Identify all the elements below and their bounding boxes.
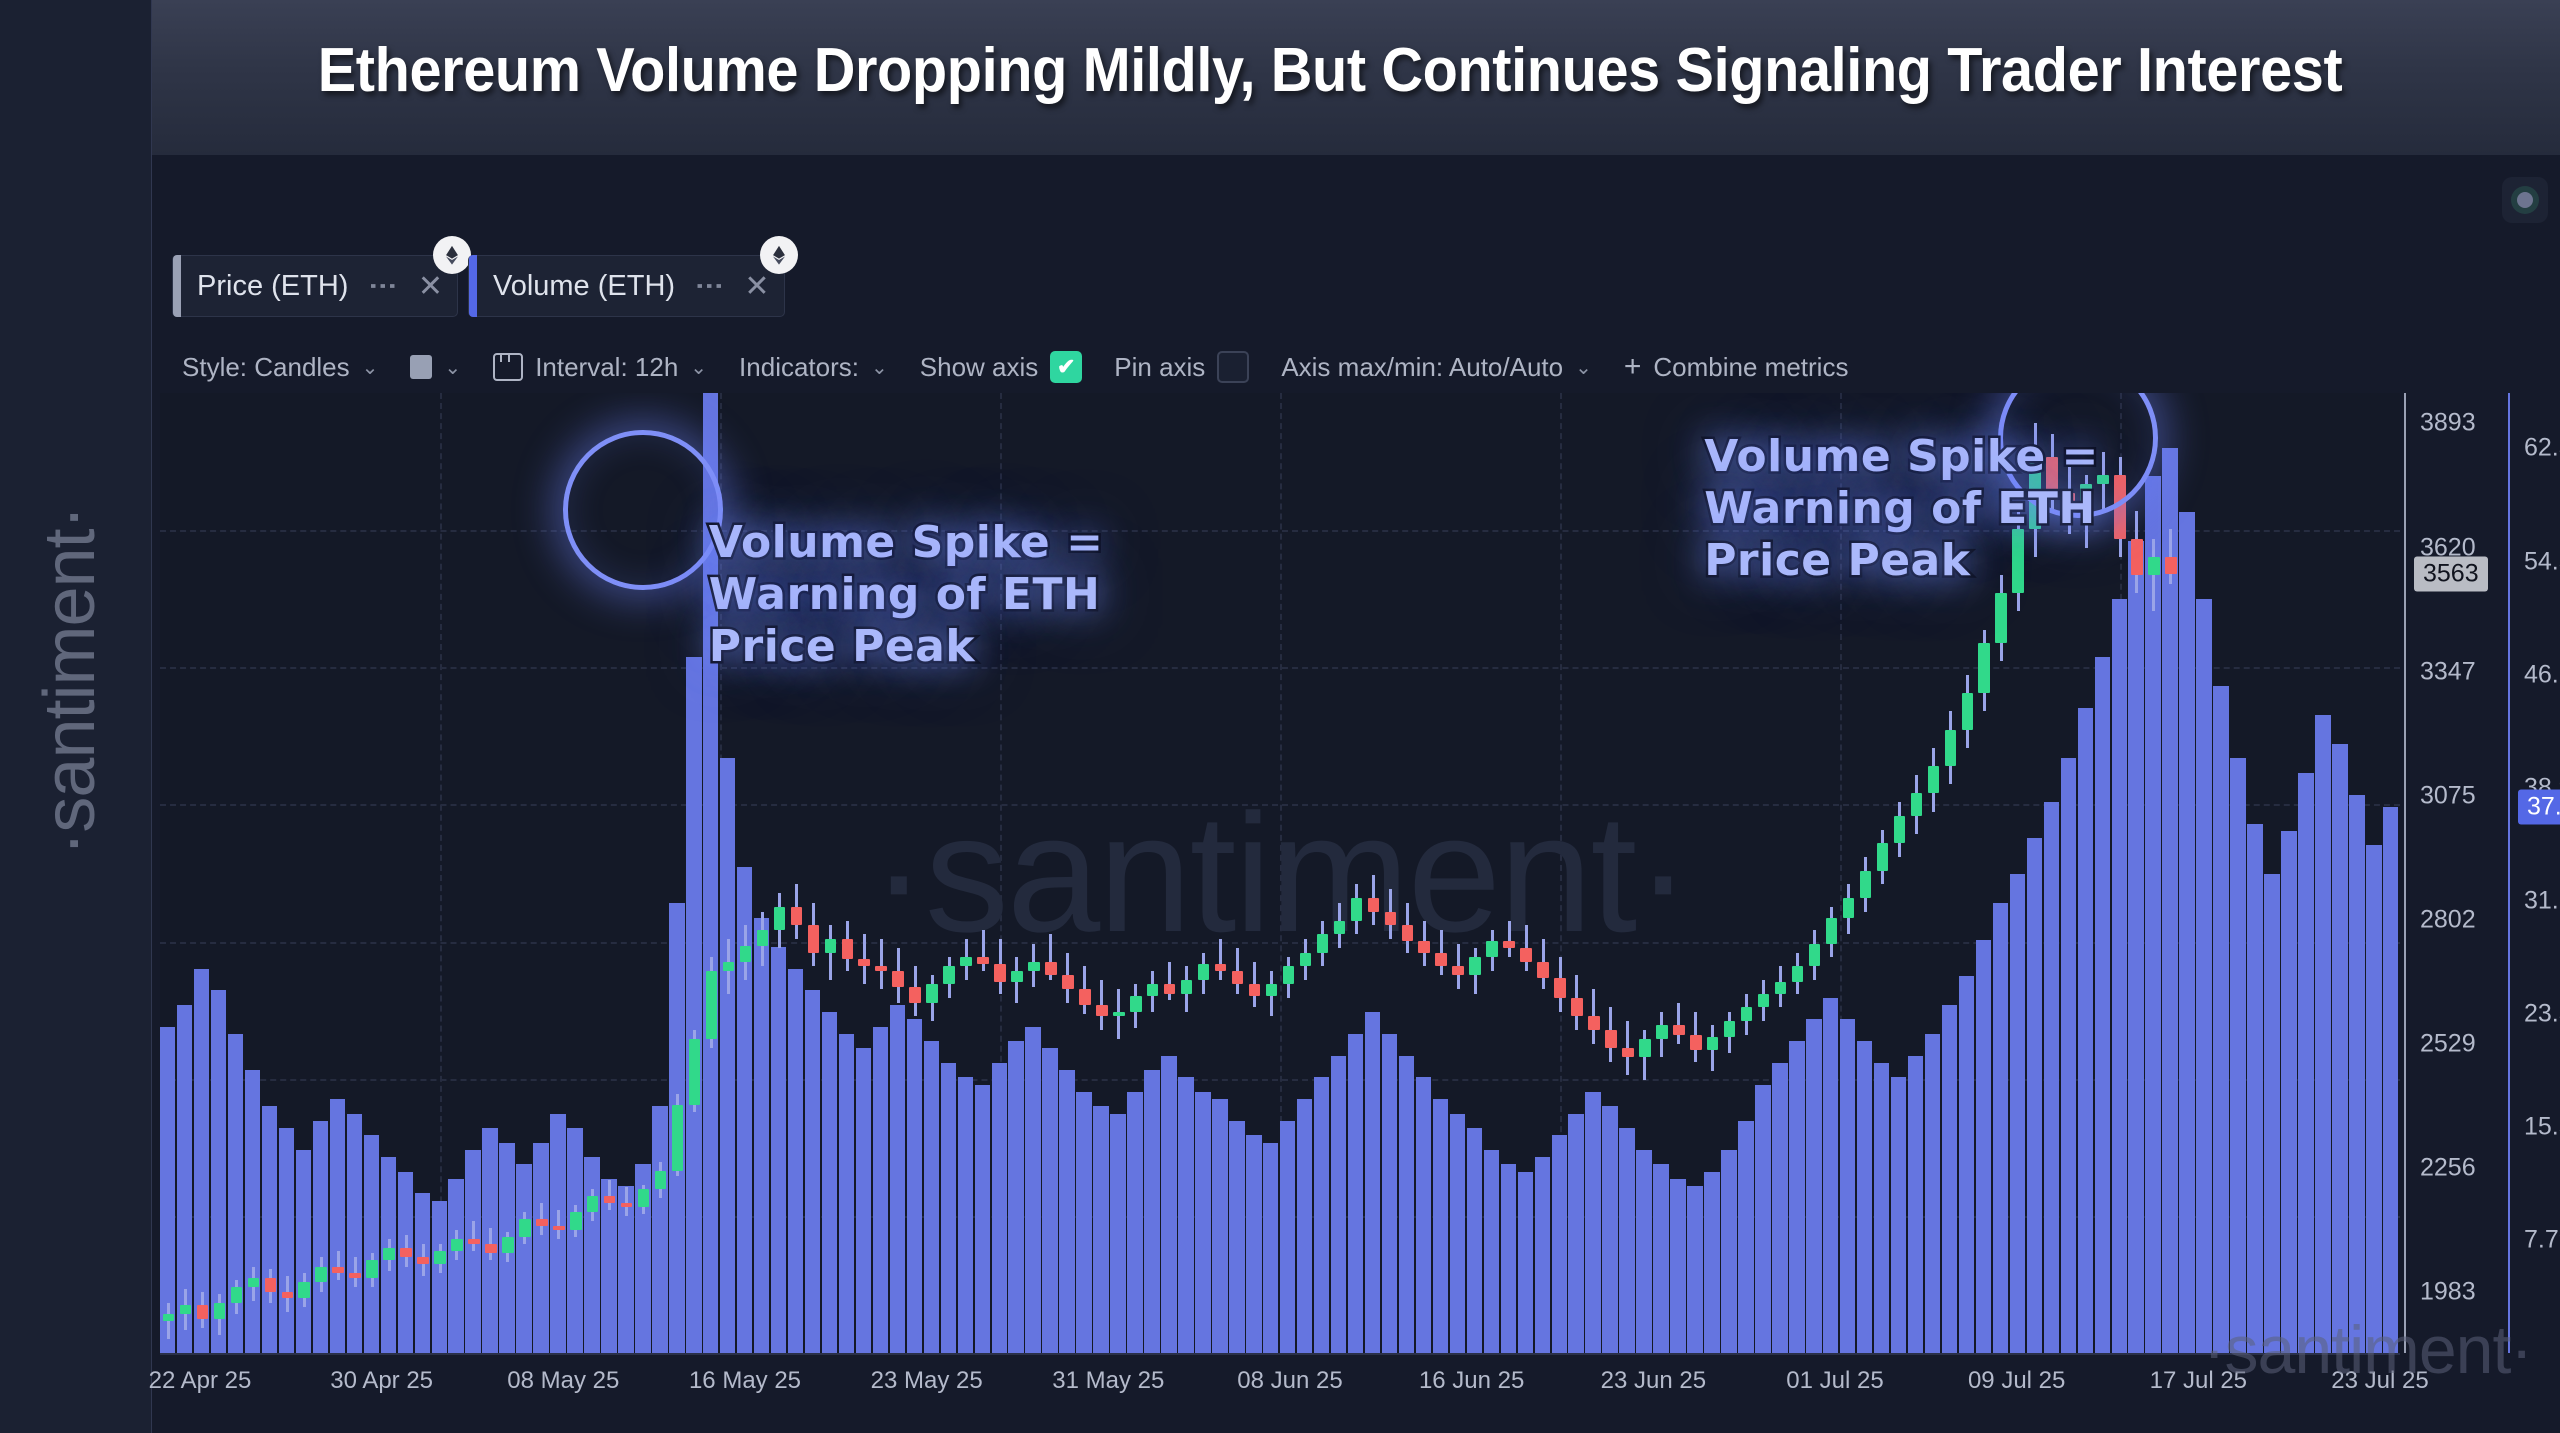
candle-up bbox=[960, 957, 972, 966]
candle-down bbox=[621, 1203, 633, 1208]
candle-down bbox=[1435, 953, 1447, 967]
candle-wick bbox=[625, 1187, 628, 1217]
candle-down bbox=[1232, 971, 1244, 985]
candle-down bbox=[1164, 984, 1176, 993]
date-axis-tick: 17 Jul 25 bbox=[2150, 1367, 2247, 1395]
chevron-down-icon[interactable]: ⌄ bbox=[444, 355, 461, 380]
date-axis-tick: 01 Jul 25 bbox=[1786, 1367, 1883, 1395]
candle-down bbox=[791, 907, 803, 925]
candle-up bbox=[1147, 984, 1159, 995]
candle-wick bbox=[557, 1210, 560, 1240]
candle-up bbox=[1995, 593, 2007, 643]
candle-up bbox=[502, 1237, 514, 1253]
candle-down bbox=[1418, 941, 1430, 952]
candle-wick bbox=[829, 925, 832, 980]
volume-axis-tick: 54.58B bbox=[2524, 547, 2560, 576]
price-axis-tick: 3075 bbox=[2420, 781, 2476, 810]
candle-down bbox=[892, 971, 904, 987]
date-axis-tick: 30 Apr 25 bbox=[330, 1367, 433, 1395]
candle-up bbox=[1775, 982, 1787, 993]
price-axis[interactable]: 389336203347307528022529225619833563 bbox=[2404, 393, 2498, 1353]
interval-label: Interval: 12h bbox=[535, 352, 678, 383]
candle-up bbox=[1639, 1039, 1651, 1057]
page-title: Ethereum Volume Dropping Mildly, But Con… bbox=[233, 34, 2428, 106]
candle-down bbox=[1622, 1048, 1634, 1057]
combine-metrics-label: Combine metrics bbox=[1653, 352, 1848, 383]
candle-wick bbox=[167, 1303, 170, 1339]
date-axis-tick: 16 Jun 25 bbox=[1419, 1367, 1524, 1395]
candle-down bbox=[994, 964, 1006, 982]
candle-down bbox=[332, 1267, 344, 1274]
candle-down bbox=[536, 1219, 548, 1226]
candle-down bbox=[2165, 557, 2177, 574]
chart-screenshot-root: Ethereum Volume Dropping Mildly, But Con… bbox=[0, 0, 2560, 1433]
candle-up bbox=[519, 1219, 531, 1237]
candle-up bbox=[231, 1287, 243, 1303]
annotation-text-2: Volume Spike = Warning of ETH Price Peak bbox=[1704, 431, 2099, 587]
volume-current-value-badge: 37.62B bbox=[2518, 790, 2560, 825]
candle-up bbox=[1911, 793, 1923, 816]
candle-up bbox=[1266, 984, 1278, 995]
candle-up bbox=[315, 1267, 327, 1283]
candle-down bbox=[1503, 941, 1515, 948]
axis-minmax-selector[interactable]: Axis max/min: Auto/Auto ⌄ bbox=[1265, 352, 1608, 383]
live-status-dot-icon[interactable] bbox=[2502, 177, 2548, 223]
candle-up bbox=[774, 907, 786, 930]
candle-up bbox=[163, 1314, 175, 1321]
candle-down bbox=[553, 1226, 565, 1231]
date-axis-tick: 09 Jul 25 bbox=[1968, 1367, 2065, 1395]
candle-wick bbox=[354, 1257, 357, 1287]
metric-tab-label: Price (ETH) bbox=[197, 270, 348, 303]
candle-up bbox=[383, 1248, 395, 1259]
candle-up bbox=[1792, 966, 1804, 982]
pin-axis-label: Pin axis bbox=[1114, 352, 1205, 383]
date-axis[interactable]: 22 Apr 2530 Apr 2508 May 2516 May 2523 M… bbox=[160, 1353, 2400, 1403]
candle-up bbox=[1317, 934, 1329, 952]
candle-up bbox=[672, 1105, 684, 1171]
price-axis-tick: 2256 bbox=[2420, 1154, 2476, 1183]
chevron-down-icon[interactable]: ⌄ bbox=[1575, 355, 1592, 380]
price-axis-tick: 2529 bbox=[2420, 1030, 2476, 1059]
candle-down bbox=[808, 925, 820, 952]
volume-axis-tick: 46.78B bbox=[2524, 660, 2560, 689]
ethereum-logo-icon bbox=[760, 236, 798, 274]
show-axis-toggle[interactable]: Show axis ✔ bbox=[904, 351, 1099, 383]
candle-up bbox=[689, 1039, 701, 1105]
candle-up bbox=[366, 1260, 378, 1278]
candle-up bbox=[180, 1305, 192, 1314]
date-axis-tick: 22 Apr 25 bbox=[149, 1367, 252, 1395]
interval-selector[interactable]: Interval: 12h ⌄ bbox=[477, 352, 723, 383]
candle-down bbox=[1079, 989, 1091, 1005]
candle-down bbox=[1249, 984, 1261, 995]
indicators-selector[interactable]: Indicators: ⌄ bbox=[723, 352, 904, 383]
candle-up bbox=[1962, 693, 1974, 729]
candle-wick bbox=[1168, 962, 1171, 1001]
candle-wick bbox=[982, 930, 985, 971]
date-axis-tick: 16 May 25 bbox=[689, 1367, 801, 1395]
chart-options-bar: Style: Candles ⌄ ⌄ Interval: 12h ⌄ Indic… bbox=[166, 347, 1864, 387]
date-axis-tick: 23 Jul 25 bbox=[2331, 1367, 2428, 1395]
candle-down bbox=[1096, 1005, 1108, 1016]
candle-up bbox=[1877, 843, 1889, 870]
style-label: Style: Candles bbox=[182, 352, 350, 383]
metric-tab-price[interactable]: Price (ETH) ⋮ ✕ bbox=[172, 255, 458, 317]
style-selector[interactable]: Style: Candles ⌄ bbox=[166, 352, 394, 383]
candle-down bbox=[349, 1273, 361, 1278]
candle-up bbox=[1486, 941, 1498, 957]
price-axis-tick: 3347 bbox=[2420, 657, 2476, 686]
candle-up bbox=[825, 939, 837, 953]
candle-up bbox=[1978, 643, 1990, 693]
candle-down bbox=[1690, 1035, 1702, 1051]
candle-down bbox=[1571, 998, 1583, 1016]
candle-down bbox=[282, 1292, 294, 1299]
candle-up bbox=[1469, 957, 1481, 975]
combine-metrics-button[interactable]: + Combine metrics bbox=[1608, 350, 1865, 384]
check-icon[interactable]: ✔ bbox=[1050, 351, 1082, 383]
candle-wick bbox=[608, 1180, 611, 1210]
volume-axis-tick: 7.79B bbox=[2524, 1226, 2560, 1255]
metric-tab-accent bbox=[469, 255, 477, 317]
volume-axis-tick: 23.39B bbox=[2524, 999, 2560, 1028]
color-swatch-icon bbox=[410, 355, 432, 379]
metric-tab-label: Volume (ETH) bbox=[493, 270, 675, 303]
volume-axis-tick: 62.38B bbox=[2524, 434, 2560, 463]
candle-up bbox=[1130, 996, 1142, 1012]
chart-panel: Price (ETH) ⋮ ✕ Volume (ETH) ⋮ ✕ Style: … bbox=[152, 155, 2560, 1433]
candle-down bbox=[858, 959, 870, 966]
candle-down bbox=[1520, 948, 1532, 962]
candle-down bbox=[400, 1248, 412, 1257]
kebab-menu-icon[interactable]: ⋮ bbox=[701, 272, 718, 300]
price-axis-tick: 2802 bbox=[2420, 905, 2476, 934]
calendar-icon bbox=[493, 353, 523, 381]
candle-up bbox=[434, 1251, 446, 1265]
candle-down bbox=[1588, 1016, 1600, 1030]
candle-down bbox=[468, 1239, 480, 1244]
candle-up bbox=[1334, 921, 1346, 935]
candle-down bbox=[1554, 978, 1566, 998]
candle-wick bbox=[337, 1251, 340, 1281]
candle-up bbox=[706, 971, 718, 1039]
candle-up bbox=[1351, 898, 1363, 921]
candle-up bbox=[451, 1239, 463, 1250]
date-axis-tick: 08 May 25 bbox=[507, 1367, 619, 1395]
candle-up bbox=[1945, 730, 1957, 766]
volume-axis[interactable]: 62.38B54.58B46.78B38.99B31.19B23.39B15.5… bbox=[2508, 393, 2560, 1353]
indicators-label: Indicators: bbox=[739, 352, 859, 383]
candle-up bbox=[214, 1303, 226, 1319]
candle-up bbox=[1028, 962, 1040, 971]
candle-up bbox=[1758, 994, 1770, 1008]
volume-axis-tick: 15.59B bbox=[2524, 1112, 2560, 1141]
candle-down bbox=[1045, 962, 1057, 976]
kebab-menu-icon[interactable]: ⋮ bbox=[374, 272, 391, 300]
candle-up bbox=[926, 984, 938, 1002]
candle-down bbox=[1402, 925, 1414, 941]
candle-down bbox=[842, 939, 854, 959]
date-axis-tick: 08 Jun 25 bbox=[1237, 1367, 1342, 1395]
price-axis-tick: 1983 bbox=[2420, 1278, 2476, 1307]
candle-down bbox=[1385, 912, 1397, 926]
candle-up bbox=[638, 1189, 650, 1207]
price-axis-tick: 3893 bbox=[2420, 409, 2476, 438]
axis-minmax-label: Axis max/min: Auto/Auto bbox=[1281, 352, 1563, 383]
candle-up bbox=[740, 946, 752, 962]
candle-up bbox=[1656, 1025, 1668, 1039]
candle-wick bbox=[1508, 921, 1511, 957]
chevron-down-icon[interactable]: ⌄ bbox=[362, 355, 379, 380]
candle-down bbox=[1368, 898, 1380, 912]
left-rail: ·santiment· bbox=[0, 0, 152, 1433]
candle-down bbox=[909, 987, 921, 1003]
candle-down bbox=[1062, 975, 1074, 989]
candle-up bbox=[1181, 980, 1193, 994]
candle-up bbox=[757, 930, 769, 946]
candle-up bbox=[1894, 816, 1906, 843]
candle-up bbox=[1843, 898, 1855, 918]
candle-up bbox=[298, 1282, 310, 1298]
close-icon[interactable]: ✕ bbox=[418, 269, 443, 304]
candle-up bbox=[1928, 766, 1940, 793]
show-axis-label: Show axis bbox=[920, 352, 1039, 383]
metric-tab-volume[interactable]: Volume (ETH) ⋮ ✕ bbox=[468, 255, 785, 317]
pin-axis-checkbox[interactable] bbox=[1217, 351, 1249, 383]
metric-tab-accent bbox=[173, 255, 181, 317]
date-axis-tick: 31 May 25 bbox=[1052, 1367, 1164, 1395]
candle-up bbox=[570, 1212, 582, 1230]
metric-tab-bar: Price (ETH) ⋮ ✕ Volume (ETH) ⋮ ✕ bbox=[172, 255, 785, 317]
candle-up bbox=[1300, 953, 1312, 967]
chevron-down-icon[interactable]: ⌄ bbox=[690, 355, 707, 380]
annotation-text-1: Volume Spike = Warning of ETH Price Peak bbox=[709, 517, 1104, 673]
pin-axis-toggle[interactable]: Pin axis bbox=[1098, 351, 1265, 383]
candle-down bbox=[1673, 1025, 1685, 1034]
candle-up bbox=[248, 1278, 260, 1287]
candle-wick bbox=[1219, 939, 1222, 980]
date-axis-tick: 23 Jun 25 bbox=[1601, 1367, 1706, 1395]
candle-down bbox=[977, 957, 989, 964]
candle-down bbox=[265, 1278, 277, 1292]
candle-down bbox=[417, 1257, 429, 1264]
candle-up bbox=[723, 962, 735, 971]
candle-down bbox=[875, 966, 887, 971]
candle-down bbox=[604, 1196, 616, 1203]
candle-down bbox=[1452, 966, 1464, 975]
candle-up bbox=[587, 1196, 599, 1212]
candle-up bbox=[1860, 871, 1872, 898]
candle-down bbox=[485, 1244, 497, 1253]
candle-wick bbox=[472, 1221, 475, 1251]
candle-up bbox=[1011, 971, 1023, 982]
candle-wick bbox=[1677, 1003, 1680, 1044]
ethereum-logo-icon bbox=[433, 236, 471, 274]
candle-down bbox=[1215, 964, 1227, 971]
candle-up bbox=[943, 966, 955, 984]
plus-icon: + bbox=[1624, 350, 1642, 384]
candle-down bbox=[1537, 962, 1549, 978]
candle-up bbox=[1283, 966, 1295, 984]
chevron-down-icon[interactable]: ⌄ bbox=[871, 355, 888, 380]
candle-up bbox=[1724, 1021, 1736, 1037]
candle-up bbox=[1198, 964, 1210, 980]
candle-up bbox=[655, 1171, 667, 1189]
candle-up bbox=[1707, 1037, 1719, 1051]
candle-down bbox=[2131, 539, 2143, 575]
color-selector[interactable]: ⌄ bbox=[394, 355, 477, 380]
candle-down bbox=[1605, 1030, 1617, 1048]
annotation-circle-1 bbox=[563, 430, 723, 590]
volume-axis-tick: 31.19B bbox=[2524, 886, 2560, 915]
candle-up bbox=[1741, 1007, 1753, 1021]
candle-down bbox=[197, 1305, 209, 1319]
close-icon[interactable]: ✕ bbox=[744, 269, 769, 304]
candle-wick bbox=[2152, 539, 2155, 612]
chart-plot-area[interactable]: ·santiment· Volume Spike = Warning of ET… bbox=[160, 393, 2400, 1353]
candle-up bbox=[1826, 918, 1838, 943]
santiment-watermark-left: ·santiment· bbox=[29, 331, 111, 1031]
candle-up bbox=[1113, 1012, 1125, 1017]
price-current-value-badge: 3563 bbox=[2414, 556, 2488, 591]
candle-up bbox=[1809, 944, 1821, 967]
candle-up bbox=[2148, 557, 2160, 575]
candle-wick bbox=[880, 939, 883, 989]
date-axis-tick: 23 May 25 bbox=[871, 1367, 983, 1395]
